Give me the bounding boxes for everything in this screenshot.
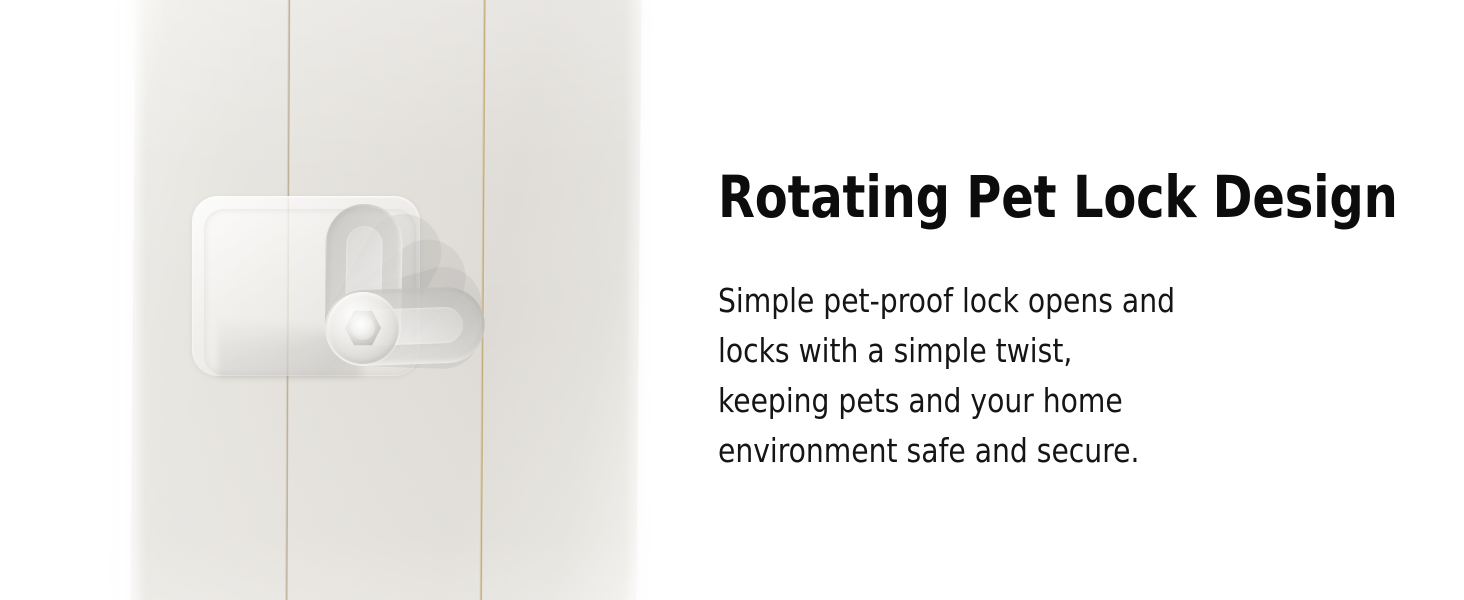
copy-block: Rotating Pet Lock Design Simple pet-proo… (718, 0, 1448, 600)
page-title: Rotating Pet Lock Design (718, 166, 1398, 228)
body-copy-line: keeping pets and your home (718, 376, 1288, 426)
body-copy-line: environment safe and secure. (718, 426, 1288, 476)
body-copy-line: locks with a simple twist, (718, 326, 1288, 376)
product-photo (0, 0, 700, 600)
rotating-pet-lock (188, 190, 428, 385)
product-feature-banner: Rotating Pet Lock Design Simple pet-proo… (0, 0, 1464, 600)
hex-screw-face (351, 316, 375, 340)
body-copy: Simple pet-proof lock opens and locks wi… (718, 276, 1288, 476)
body-copy-line: Simple pet-proof lock opens and (718, 276, 1288, 326)
